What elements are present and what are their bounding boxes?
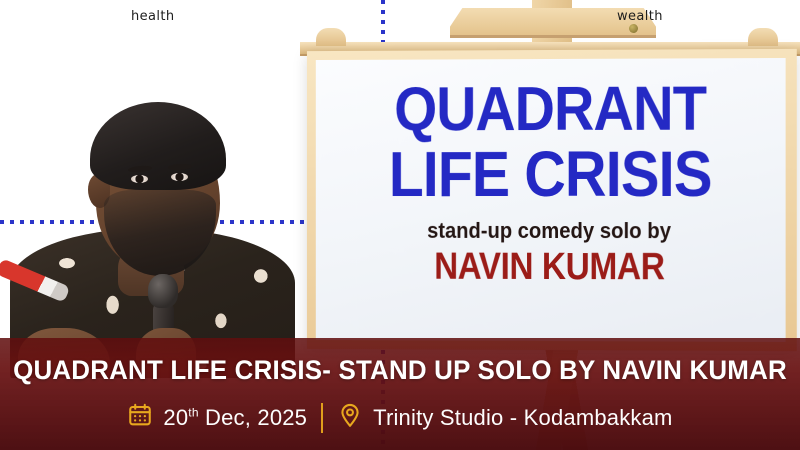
event-info-band: QUADRANT LIFE CRISIS- STAND UP SOLO BY N… — [0, 338, 800, 450]
event-date-day: 20 — [163, 405, 188, 430]
axis-label-health: health — [131, 9, 175, 24]
event-title: QUADRANT LIFE CRISIS- STAND UP SOLO BY N… — [13, 355, 787, 386]
event-date: 20th Dec, 2025 — [127, 402, 307, 433]
eye-left — [131, 175, 148, 183]
whiteboard-performer-name: NAVIN KUMAR — [434, 246, 664, 289]
screw-icon — [717, 24, 726, 33]
whiteboard-surface: QUADRANT LIFE CRISIS stand-up comedy sol… — [316, 58, 786, 342]
event-meta-row: 20th Dec, 2025 Trinity Studio - Kodambak… — [127, 402, 672, 433]
screw-icon — [629, 24, 638, 33]
whiteboard-subtitle: stand-up comedy solo by — [427, 218, 671, 244]
easel-knob — [316, 28, 346, 46]
event-date-text: 20th Dec, 2025 — [163, 405, 307, 431]
microphone-head — [148, 274, 178, 308]
whiteboard: QUADRANT LIFE CRISIS stand-up comedy sol… — [307, 49, 797, 351]
whiteboard-title-line-2: LIFE CRISIS — [388, 145, 711, 202]
eye-right — [171, 173, 188, 181]
hair — [90, 102, 226, 190]
axis-label-wealth: wealth — [617, 9, 663, 24]
performer-photo — [0, 78, 300, 378]
event-venue: Trinity Studio - Kodambakkam — [337, 402, 672, 433]
easel-knob — [748, 28, 778, 46]
calendar-icon — [127, 402, 153, 433]
event-poster: health wealth QUADRANT LIFE CR — [0, 0, 800, 450]
event-date-rest: Dec, 2025 — [205, 405, 307, 430]
meta-separator — [321, 403, 323, 433]
event-date-suffix: th — [188, 405, 198, 419]
location-pin-icon — [337, 402, 363, 433]
event-venue-text: Trinity Studio - Kodambakkam — [373, 405, 672, 431]
whiteboard-title-line-1: QUADRANT — [394, 82, 706, 137]
